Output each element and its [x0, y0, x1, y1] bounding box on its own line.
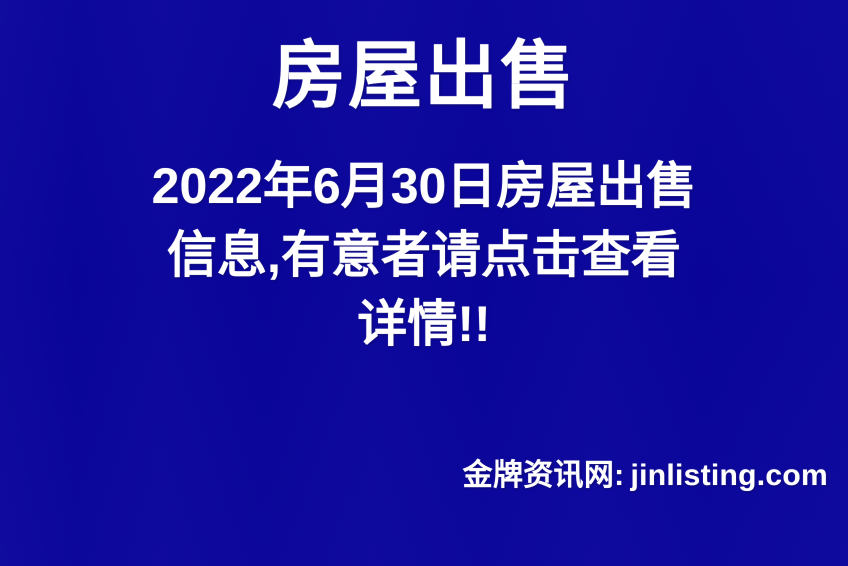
footer-site-url: jinlisting.com	[630, 459, 828, 492]
poster-footer: 金牌资讯网:jinlisting.com	[463, 458, 828, 494]
poster-headline: 房屋出售	[0, 28, 848, 124]
body-line-2: 信息,有意者请点击查看	[0, 221, 848, 290]
poster-body: 2022年6月30日房屋出售 信息,有意者请点击查看 详情!!	[0, 152, 848, 359]
body-line-3: 详情!!	[0, 290, 848, 359]
house-for-sale-poster: 房屋出售 2022年6月30日房屋出售 信息,有意者请点击查看 详情!! 金牌资…	[0, 0, 848, 566]
footer-site-name: 金牌资讯网:	[463, 459, 625, 492]
body-line-1: 2022年6月30日房屋出售	[0, 152, 848, 221]
